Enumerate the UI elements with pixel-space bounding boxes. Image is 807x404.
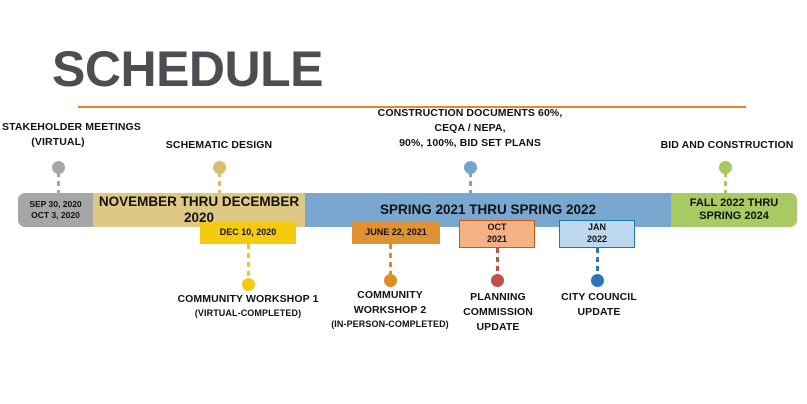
milestone-label-line: COMMISSION — [452, 305, 544, 320]
annotation-line: 90%, 100%, BID SET PLANS — [355, 136, 585, 151]
milestone-dot-icon — [491, 274, 504, 287]
milestone-label-line: (VIRTUAL-COMPLETED) — [168, 307, 328, 320]
milestone-label-planning-commission-update: PLANNINGCOMMISSIONUPDATE — [452, 290, 544, 336]
milestone-dot-icon — [242, 278, 255, 291]
callout-box-planning-commission-update[interactable]: OCT2021 — [459, 220, 535, 248]
milestone-label-community-workshop-1: COMMUNITY WORKSHOP 1(VIRTUAL-COMPLETED) — [168, 292, 328, 320]
milestone-label-line: UPDATE — [551, 305, 647, 320]
segment-text: NOVEMBER THRU DECEMBER 2020 — [93, 194, 305, 225]
annotation-line: (VIRTUAL) — [2, 135, 114, 150]
annotation-line: CONSTRUCTION DOCUMENTS 60%, — [355, 106, 585, 121]
milestone-label-line: COMMUNITY WORKSHOP 1 — [168, 292, 328, 307]
page-title: SCHEDULE — [52, 44, 323, 94]
milestone-label-line: CITY COUNCIL — [551, 290, 647, 305]
callout-text: JUNE 22, 2021 — [365, 227, 427, 239]
milestone-label-line: (IN-PERSON-COMPLETED) — [325, 318, 455, 331]
milestone-stem-icon — [496, 248, 499, 276]
callout-line: DEC 10, 2020 — [220, 227, 277, 239]
milestone-dot-icon — [384, 274, 397, 287]
annotation-line: BID AND CONSTRUCTION — [660, 138, 794, 153]
segment-line: SPRING 2021 THRU SPRING 2022 — [380, 202, 596, 218]
annotation-label-bid-and-construction: BID AND CONSTRUCTION — [660, 138, 794, 153]
segment-text: FALL 2022 THRUSPRING 2024 — [690, 197, 778, 222]
annotation-line: STAKEHOLDER MEETINGS — [2, 120, 114, 135]
timeline-segment-stakeholder[interactable]: SEP 30, 2020OCT 3, 2020 — [18, 193, 93, 227]
milestone-stem-icon — [389, 244, 392, 276]
schedule-infographic: SCHEDULE STAKEHOLDER MEETINGS(VIRTUAL)SC… — [0, 0, 807, 404]
callout-line: JUNE 22, 2021 — [365, 227, 427, 239]
annotation-label-schematic-design: SCHEMATIC DESIGN — [160, 138, 278, 153]
annotation-label-stakeholder-meetings: STAKEHOLDER MEETINGS(VIRTUAL) — [2, 120, 114, 150]
callout-text: OCT2021 — [487, 222, 507, 245]
milestone-stem-icon — [247, 244, 250, 280]
segment-line: OCT 3, 2020 — [29, 210, 81, 221]
segment-line: SPRING 2024 — [690, 210, 778, 223]
annotation-label-construction-documents: CONSTRUCTION DOCUMENTS 60%,CEQA / NEPA,9… — [355, 106, 585, 152]
milestone-label-line: UPDATE — [452, 320, 544, 335]
milestone-label-line: WORKSHOP 2 — [325, 303, 455, 318]
segment-line: SEP 30, 2020 — [29, 199, 81, 210]
segment-text: SEP 30, 2020OCT 3, 2020 — [29, 199, 81, 220]
callout-text: DEC 10, 2020 — [220, 227, 277, 239]
callout-line: JAN — [587, 222, 607, 234]
segment-line: FALL 2022 THRU — [690, 197, 778, 210]
milestone-label-community-workshop-2: COMMUNITYWORKSHOP 2(IN-PERSON-COMPLETED) — [325, 288, 455, 331]
milestone-stem-icon — [596, 248, 599, 276]
callout-line: 2021 — [487, 234, 507, 246]
milestone-dot-icon — [591, 274, 604, 287]
milestone-label-line: PLANNING — [452, 290, 544, 305]
callout-box-community-workshop-2[interactable]: JUNE 22, 2021 — [352, 222, 440, 244]
milestone-label-line: COMMUNITY — [325, 288, 455, 303]
annotation-line: SCHEMATIC DESIGN — [160, 138, 278, 153]
callout-box-city-council-update[interactable]: JAN2022 — [559, 220, 635, 248]
milestone-label-city-council-update: CITY COUNCILUPDATE — [551, 290, 647, 320]
annotation-line: CEQA / NEPA, — [355, 121, 585, 136]
segment-line: NOVEMBER THRU DECEMBER 2020 — [93, 194, 305, 225]
callout-box-community-workshop-1[interactable]: DEC 10, 2020 — [200, 222, 296, 244]
callout-line: OCT — [487, 222, 507, 234]
callout-text: JAN2022 — [587, 222, 607, 245]
timeline-segment-bid-construction[interactable]: FALL 2022 THRUSPRING 2024 — [671, 193, 797, 227]
callout-line: 2022 — [587, 234, 607, 246]
segment-text: SPRING 2021 THRU SPRING 2022 — [380, 202, 596, 218]
